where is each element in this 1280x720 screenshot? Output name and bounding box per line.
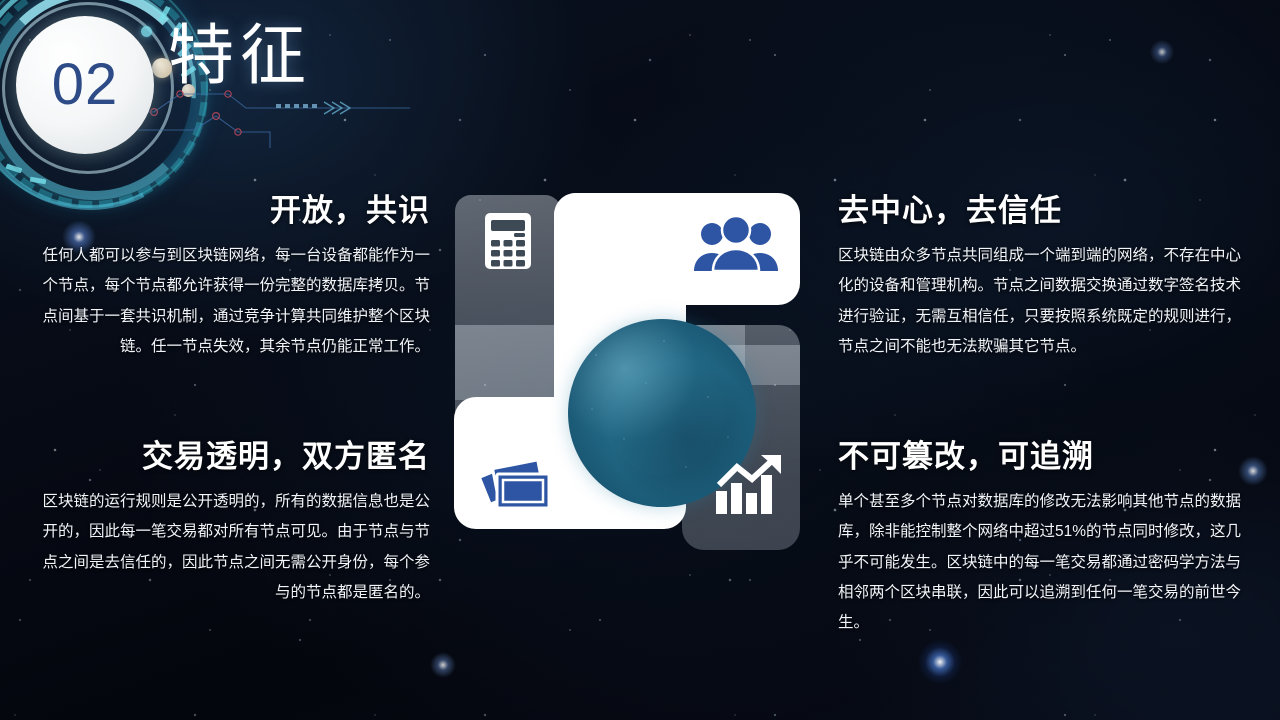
feature-heading: 交易透明，双方匿名 [30, 438, 430, 475]
calculator-icon [470, 203, 546, 279]
center-graphic [450, 175, 820, 550]
glow-star [430, 652, 456, 678]
feature-body: 区块链由众多节点共同组成一个端到端的网络，不存在中心化的设备和管理机构。节点之间… [838, 241, 1246, 362]
feature-block-bottom-right: 不可篡改，可追溯 单个甚至多个节点对数据库的修改无法影响其他节点的数据库，除非能… [838, 438, 1246, 638]
growth-chart-icon [708, 445, 792, 523]
tech-network-lines [120, 60, 410, 150]
glow-star [1150, 40, 1174, 64]
feature-heading: 不可篡改，可追溯 [838, 438, 1246, 475]
hud-orb [141, 26, 152, 37]
feature-body: 任何人都可以参与到区块链网络，每一台设备都能作为一个节点，每个节点都允许获得一份… [30, 241, 430, 362]
slide-canvas: 特征 [0, 0, 1280, 720]
feature-heading: 开放，共识 [30, 192, 430, 229]
feature-heading: 去中心，去信任 [838, 192, 1246, 229]
feature-body: 区块链的运行规则是公开透明的，所有的数据信息也是公开的，因此每一笔交易都对所有节… [30, 487, 430, 608]
glow-star [918, 640, 962, 684]
feature-block-top-right: 去中心，去信任 区块链由众多节点共同组成一个端到端的网络，不存在中心化的设备和管… [838, 192, 1246, 362]
section-number-badge: 02 [16, 16, 154, 154]
feature-block-bottom-left: 交易透明，双方匿名 区块链的运行规则是公开透明的，所有的数据信息也是公开的，因此… [30, 438, 430, 608]
section-number: 02 [52, 56, 119, 114]
feature-block-top-left: 开放，共识 任何人都可以参与到区块链网络，每一台设备都能作为一个节点，每个节点都… [30, 192, 430, 362]
feature-body: 单个甚至多个节点对数据库的修改无法影响其他节点的数据库，除非能控制整个网络中超过… [838, 487, 1246, 638]
people-group-icon [688, 205, 784, 281]
slide-header: 特征 [0, 0, 620, 175]
banknotes-icon [472, 443, 568, 523]
